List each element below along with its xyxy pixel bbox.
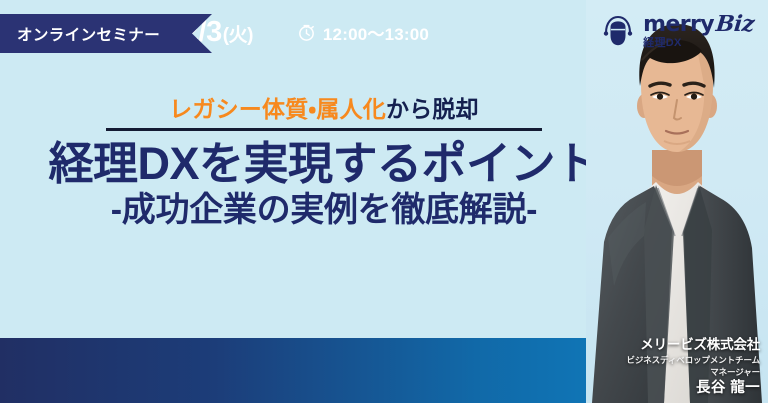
speaker-name: 長谷 龍一	[592, 379, 760, 398]
event-time-group: 12:00〜13:00	[297, 20, 429, 45]
brand-logo[interactable]: merry Biz 経理DX	[600, 13, 754, 49]
merrybiz-mark-icon	[600, 13, 636, 49]
page-subtitle: -成功企業の実例を徹底解説-	[0, 191, 648, 230]
ribbon-label: オンラインセミナー	[17, 23, 160, 45]
logo-wordmark-merry: merry	[643, 14, 714, 36]
stopwatch-icon	[297, 23, 316, 42]
headline-block: レガシー体質・属人化から脱却 経理DXを実現するポイント -成功企業の実例を徹底…	[0, 96, 648, 230]
speaker-team: ビジネスディベロップメントチーム	[592, 354, 760, 366]
event-day-of-week: (火)	[223, 20, 253, 47]
kicker-highlight: レガシー体質・属人化	[169, 96, 386, 122]
kicker-underline	[106, 128, 542, 131]
page-title: 経理DXを実現するポイント	[0, 139, 648, 189]
speaker-company: メリービズ株式会社	[592, 337, 760, 354]
kicker-line: レガシー体質・属人化から脱却	[0, 96, 648, 122]
speaker-credits: メリービズ株式会社 ビジネスディベロップメントチーム マネージャー 長谷 龍一	[592, 337, 760, 398]
webinar-banner: オンラインセミナー merry Biz 経理DX レガシー体質・属人化から脱却	[0, 0, 768, 403]
logo-sub-label: 経理DX	[643, 38, 754, 49]
speaker-role: マネージャー	[592, 366, 760, 378]
seminar-type-ribbon: オンラインセミナー	[0, 14, 212, 53]
logo-wordmark-biz: Biz	[715, 13, 755, 35]
event-time-range: 12:00〜13:00	[323, 20, 429, 45]
kicker-tail: から脱却	[386, 96, 479, 122]
